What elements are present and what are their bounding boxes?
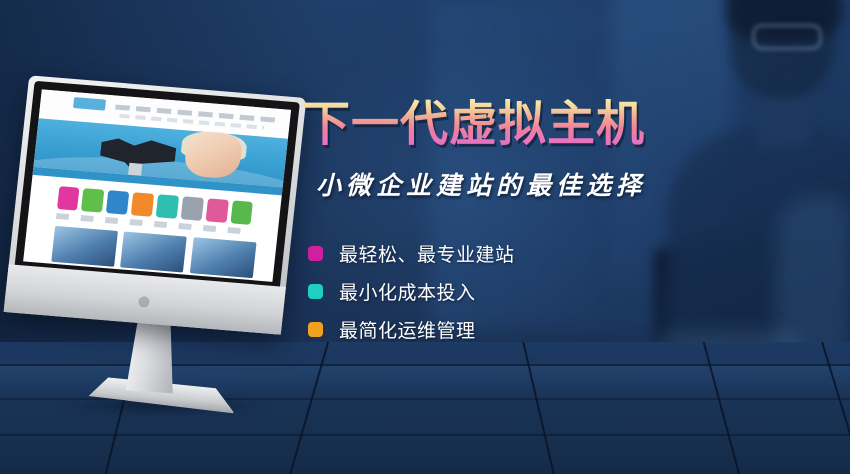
monitor-screen	[23, 89, 291, 281]
feature-label: 最小化成本投入	[339, 278, 476, 305]
bullet-dot-icon	[308, 322, 323, 337]
website-app-icon	[81, 188, 104, 212]
list-item: 最轻松、最专业建站	[308, 236, 722, 272]
floor-band	[0, 434, 850, 436]
monitor-body	[4, 75, 307, 334]
feature-label: 最简化运维管理	[339, 316, 476, 343]
banner-content: 下一代虚拟主机 小微企业建站的最佳选择 最轻松、最专业建站 最小化成本投入 最简…	[302, 98, 722, 350]
hero-banner: 下一代虚拟主机 小微企业建站的最佳选择 最轻松、最专业建站 最小化成本投入 最简…	[0, 0, 850, 474]
website-app-icon	[156, 194, 179, 218]
list-item: 最简化运维管理	[308, 312, 722, 348]
bullet-dot-icon	[308, 246, 323, 261]
website-thumbnail	[189, 237, 256, 278]
monitor-bezel	[15, 81, 300, 288]
desktop-monitor-icon	[8, 82, 300, 412]
website-thumbnail	[120, 231, 187, 272]
website-thumbnail	[51, 226, 118, 267]
website-app-icon	[230, 201, 253, 225]
website-app-icon	[131, 192, 154, 216]
floor-grid-line	[700, 342, 743, 474]
monitor-brand-logo-icon	[138, 296, 150, 308]
website-app-icon	[106, 190, 129, 214]
page-title: 下一代虚拟主机	[302, 98, 722, 152]
feature-list: 最轻松、最专业建站 最小化成本投入 最简化运维管理	[308, 236, 722, 348]
page-subtitle: 小微企业建站的最佳选择	[316, 166, 722, 202]
website-app-icon	[57, 186, 80, 210]
floor-grid-line	[818, 342, 850, 474]
list-item: 最小化成本投入	[308, 274, 722, 310]
glasses-icon	[752, 24, 822, 50]
bullet-dot-icon	[308, 284, 323, 299]
website-app-icon	[181, 196, 204, 220]
floor-grid-line	[520, 342, 558, 474]
feature-label: 最轻松、最专业建站	[339, 240, 515, 267]
website-app-icon	[206, 198, 229, 222]
